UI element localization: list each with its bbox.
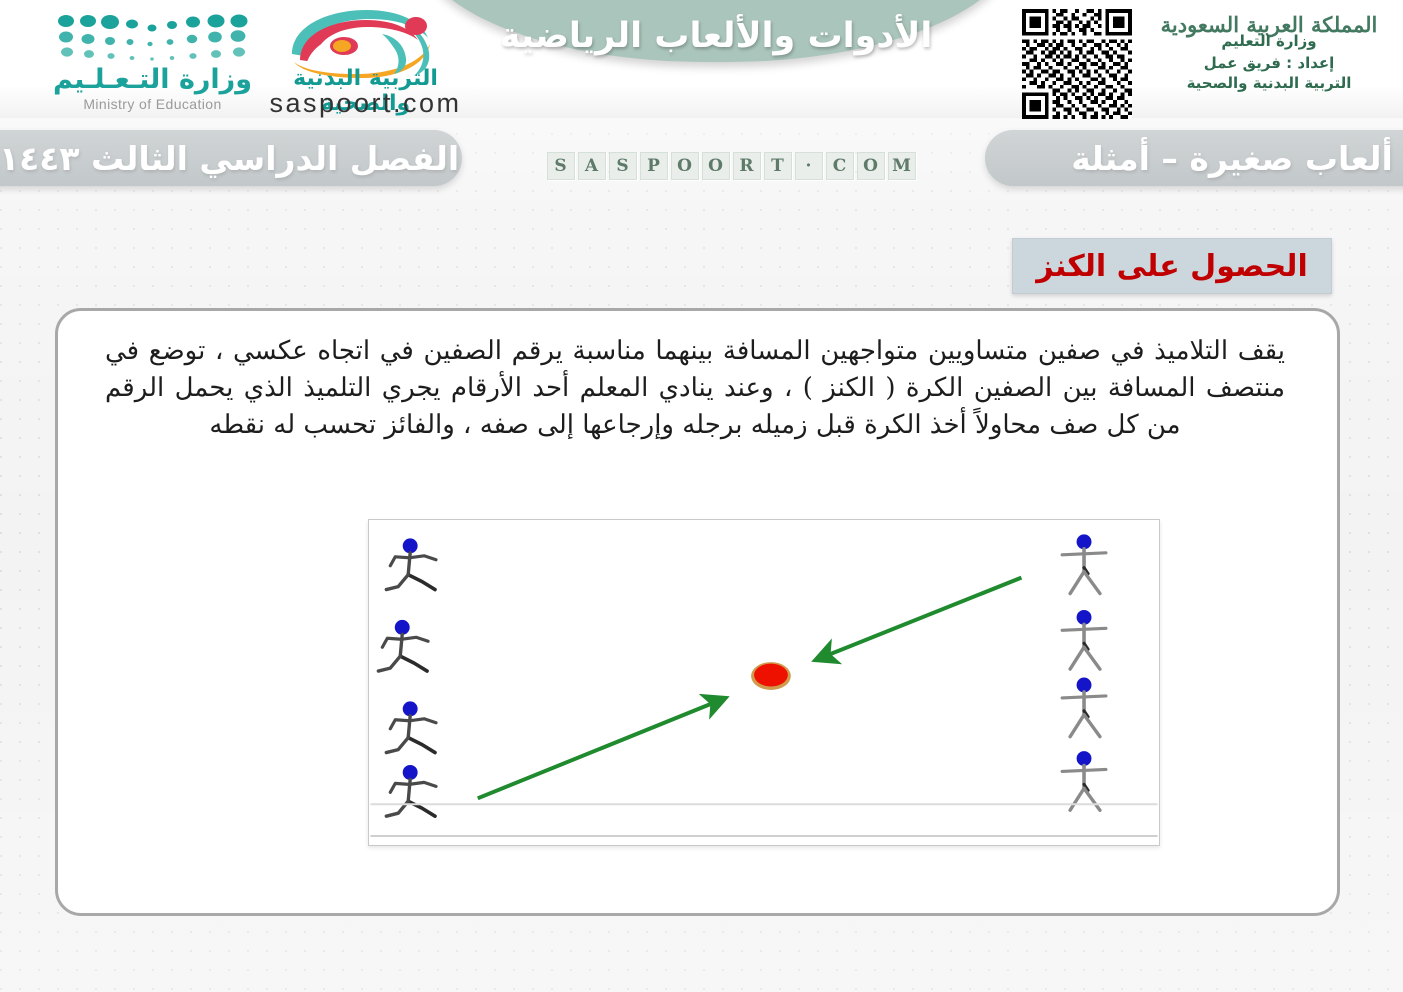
- watermark-char: S: [609, 152, 637, 180]
- term-label: الفصل الدراسي الثالث ١٤٤٣هـ: [0, 139, 459, 178]
- moe-logo-english-label: Ministry of Education: [50, 96, 255, 112]
- saspoort-logo: التربية البدنية والصحية saspoort.com: [258, 4, 473, 116]
- watermark-char: P: [640, 152, 668, 180]
- slide-page: وزارة التـعـلـيم Ministry of Education ا…: [0, 0, 1403, 992]
- watermark-char: ·: [795, 152, 823, 180]
- content-card: يقف التلاميذ في صفين متساويين متواجهين ا…: [55, 308, 1340, 916]
- treasure-game-diagram: [368, 519, 1160, 846]
- diagram-svg: [369, 520, 1159, 845]
- ministry-info-block: المملكة العربية السعودية وزارة التعليم إ…: [1140, 14, 1398, 92]
- topic-label: ألعاب صغيرة – أمثلة: [1071, 139, 1393, 178]
- slide-title: الأدوات والألعاب الرياضية: [500, 16, 933, 56]
- moe-logo-arabic-label: وزارة التـعـلـيم: [50, 64, 255, 95]
- watermark-char: S: [547, 152, 575, 180]
- watermark-char: O: [857, 152, 885, 180]
- slide-title-banner: الأدوات والألعاب الرياضية: [416, 0, 1016, 62]
- kingdom-label: المملكة العربية السعودية: [1140, 14, 1398, 36]
- saspoort-watermark: SASPOORT·COM: [536, 146, 926, 186]
- lesson-description: يقف التلاميذ في صفين متساويين متواجهين ا…: [105, 333, 1285, 444]
- topic-pill: ألعاب صغيرة – أمثلة: [985, 130, 1403, 186]
- qr-code-icon: [1022, 9, 1132, 119]
- lesson-title: الحصول على الكنز: [1036, 249, 1307, 284]
- saspoort-website-label: saspoort.com: [258, 88, 473, 119]
- lesson-title-badge: الحصول على الكنز: [1012, 238, 1332, 294]
- watermark-char: R: [733, 152, 761, 180]
- watermark-char: O: [671, 152, 699, 180]
- watermark-char: O: [702, 152, 730, 180]
- prepared-by-label: إعداد : فريق عمل: [1140, 54, 1398, 72]
- lesson-description-text: يقف التلاميذ في صفين متساويين متواجهين ا…: [105, 333, 1285, 444]
- moe-dots-icon: [50, 12, 255, 64]
- term-pill: الفصل الدراسي الثالث ١٤٤٣هـ: [0, 130, 462, 186]
- department-label: التربية البدنية والصحية: [1140, 74, 1398, 92]
- watermark-char: M: [888, 152, 916, 180]
- slide-header: وزارة التـعـلـيم Ministry of Education ا…: [0, 0, 1403, 128]
- watermark-char: C: [826, 152, 854, 180]
- ministry-of-education-logo: وزارة التـعـلـيم Ministry of Education: [50, 8, 255, 116]
- watermark-char: A: [578, 152, 606, 180]
- watermark-char: T: [764, 152, 792, 180]
